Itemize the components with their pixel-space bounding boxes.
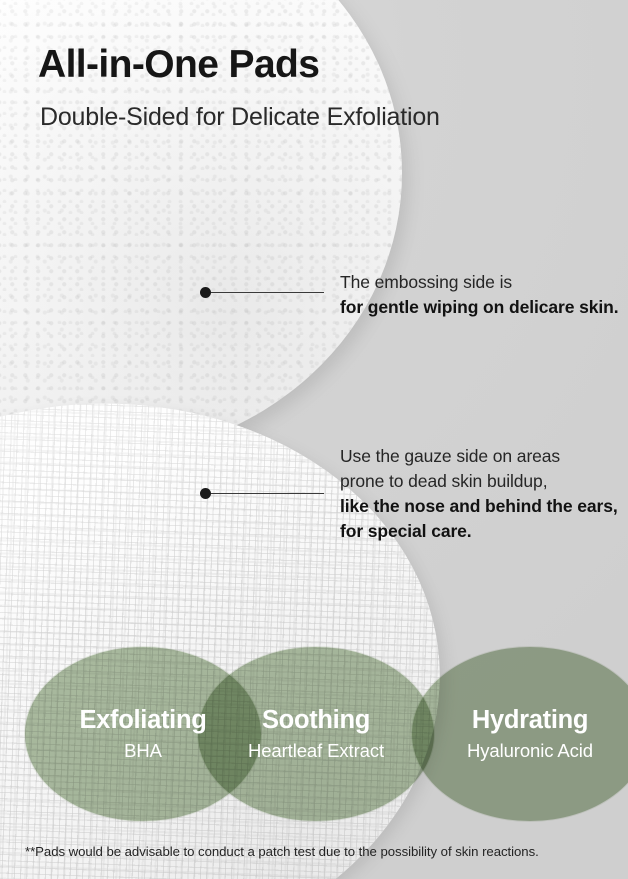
benefit-venn-diagram xyxy=(0,646,628,826)
callout-line: Use the gauze side on areas xyxy=(340,444,618,469)
leader-dot-icon xyxy=(200,488,211,499)
benefit-oval-soothing xyxy=(197,646,435,822)
footnote-disclaimer: **Pads would be advisable to conduct a p… xyxy=(25,843,539,860)
page-subtitle: Double-Sided for Delicate Exfoliation xyxy=(40,103,440,131)
callout-gauze-text: Use the gauze side on areas prone to dea… xyxy=(340,444,618,544)
callout-line: The embossing side is xyxy=(340,270,619,295)
benefit-oval-hydrating xyxy=(411,646,628,822)
callout-line: for gentle wiping on delicare skin. xyxy=(340,295,619,320)
leader-dot-icon xyxy=(200,287,211,298)
callout-embossing-text: The embossing side is for gentle wiping … xyxy=(340,270,619,320)
leader-gauze xyxy=(200,488,324,499)
leader-embossing xyxy=(200,287,324,298)
callout-line: prone to dead skin buildup, xyxy=(340,469,618,494)
page-title: All-in-One Pads xyxy=(38,44,319,85)
leader-line-icon xyxy=(211,493,324,494)
product-infographic: All-in-One Pads Double-Sided for Delicat… xyxy=(0,0,628,879)
leader-line-icon xyxy=(211,292,324,293)
callout-line: for special care. xyxy=(340,519,618,544)
callout-line: like the nose and behind the ears, xyxy=(340,494,618,519)
